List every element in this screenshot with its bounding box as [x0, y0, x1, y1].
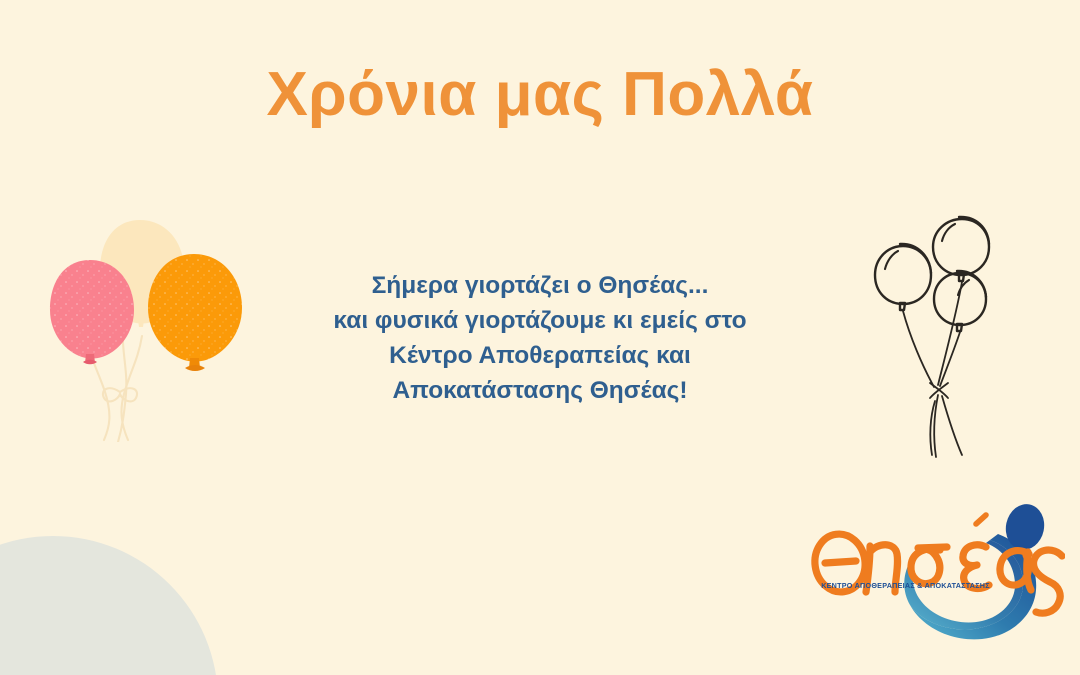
- bottom-left-circle: [0, 536, 218, 675]
- message-line-3: Κέντρο Αποθεραπείας και: [240, 338, 840, 373]
- line-art-balloons-illustration: [862, 205, 1017, 470]
- message-line-4: Αποκατάστασης Θησέας!: [240, 373, 840, 408]
- message-block: Σήμερα γιορτάζει ο Θησέας... και φυσικά …: [240, 268, 840, 408]
- brand-logo[interactable]: ΚΕΝΤΡΟ ΑΠΟΘΕΡΑΠΕΙΑΣ & ΑΠΟΚΑΤΑΣΤΑΣΗΣ: [800, 500, 1065, 655]
- message-line-2: και φυσικά γιορτάζουμε κι εμείς στο: [240, 303, 840, 338]
- line-balloon-strings: [903, 282, 962, 457]
- balloon-pink: [50, 260, 134, 364]
- flat-balloons-illustration: [42, 202, 272, 442]
- message-line-1: Σήμερα γιορτάζει ο Θησέας...: [240, 268, 840, 303]
- page-title: Χρόνια μας Πολλά: [0, 62, 1080, 127]
- line-balloon-left: [875, 244, 931, 310]
- greeting-card-canvas: Χρόνια μας Πολλά Σήμερα γιορτάζει ο Θησέ…: [0, 0, 1080, 675]
- logo-tagline: ΚΕΝΤΡΟ ΑΠΟΘΕΡΑΠΕΙΑΣ & ΑΠΟΚΑΤΑΣΤΑΣΗΣ: [813, 581, 998, 590]
- balloon-orange: [148, 254, 242, 371]
